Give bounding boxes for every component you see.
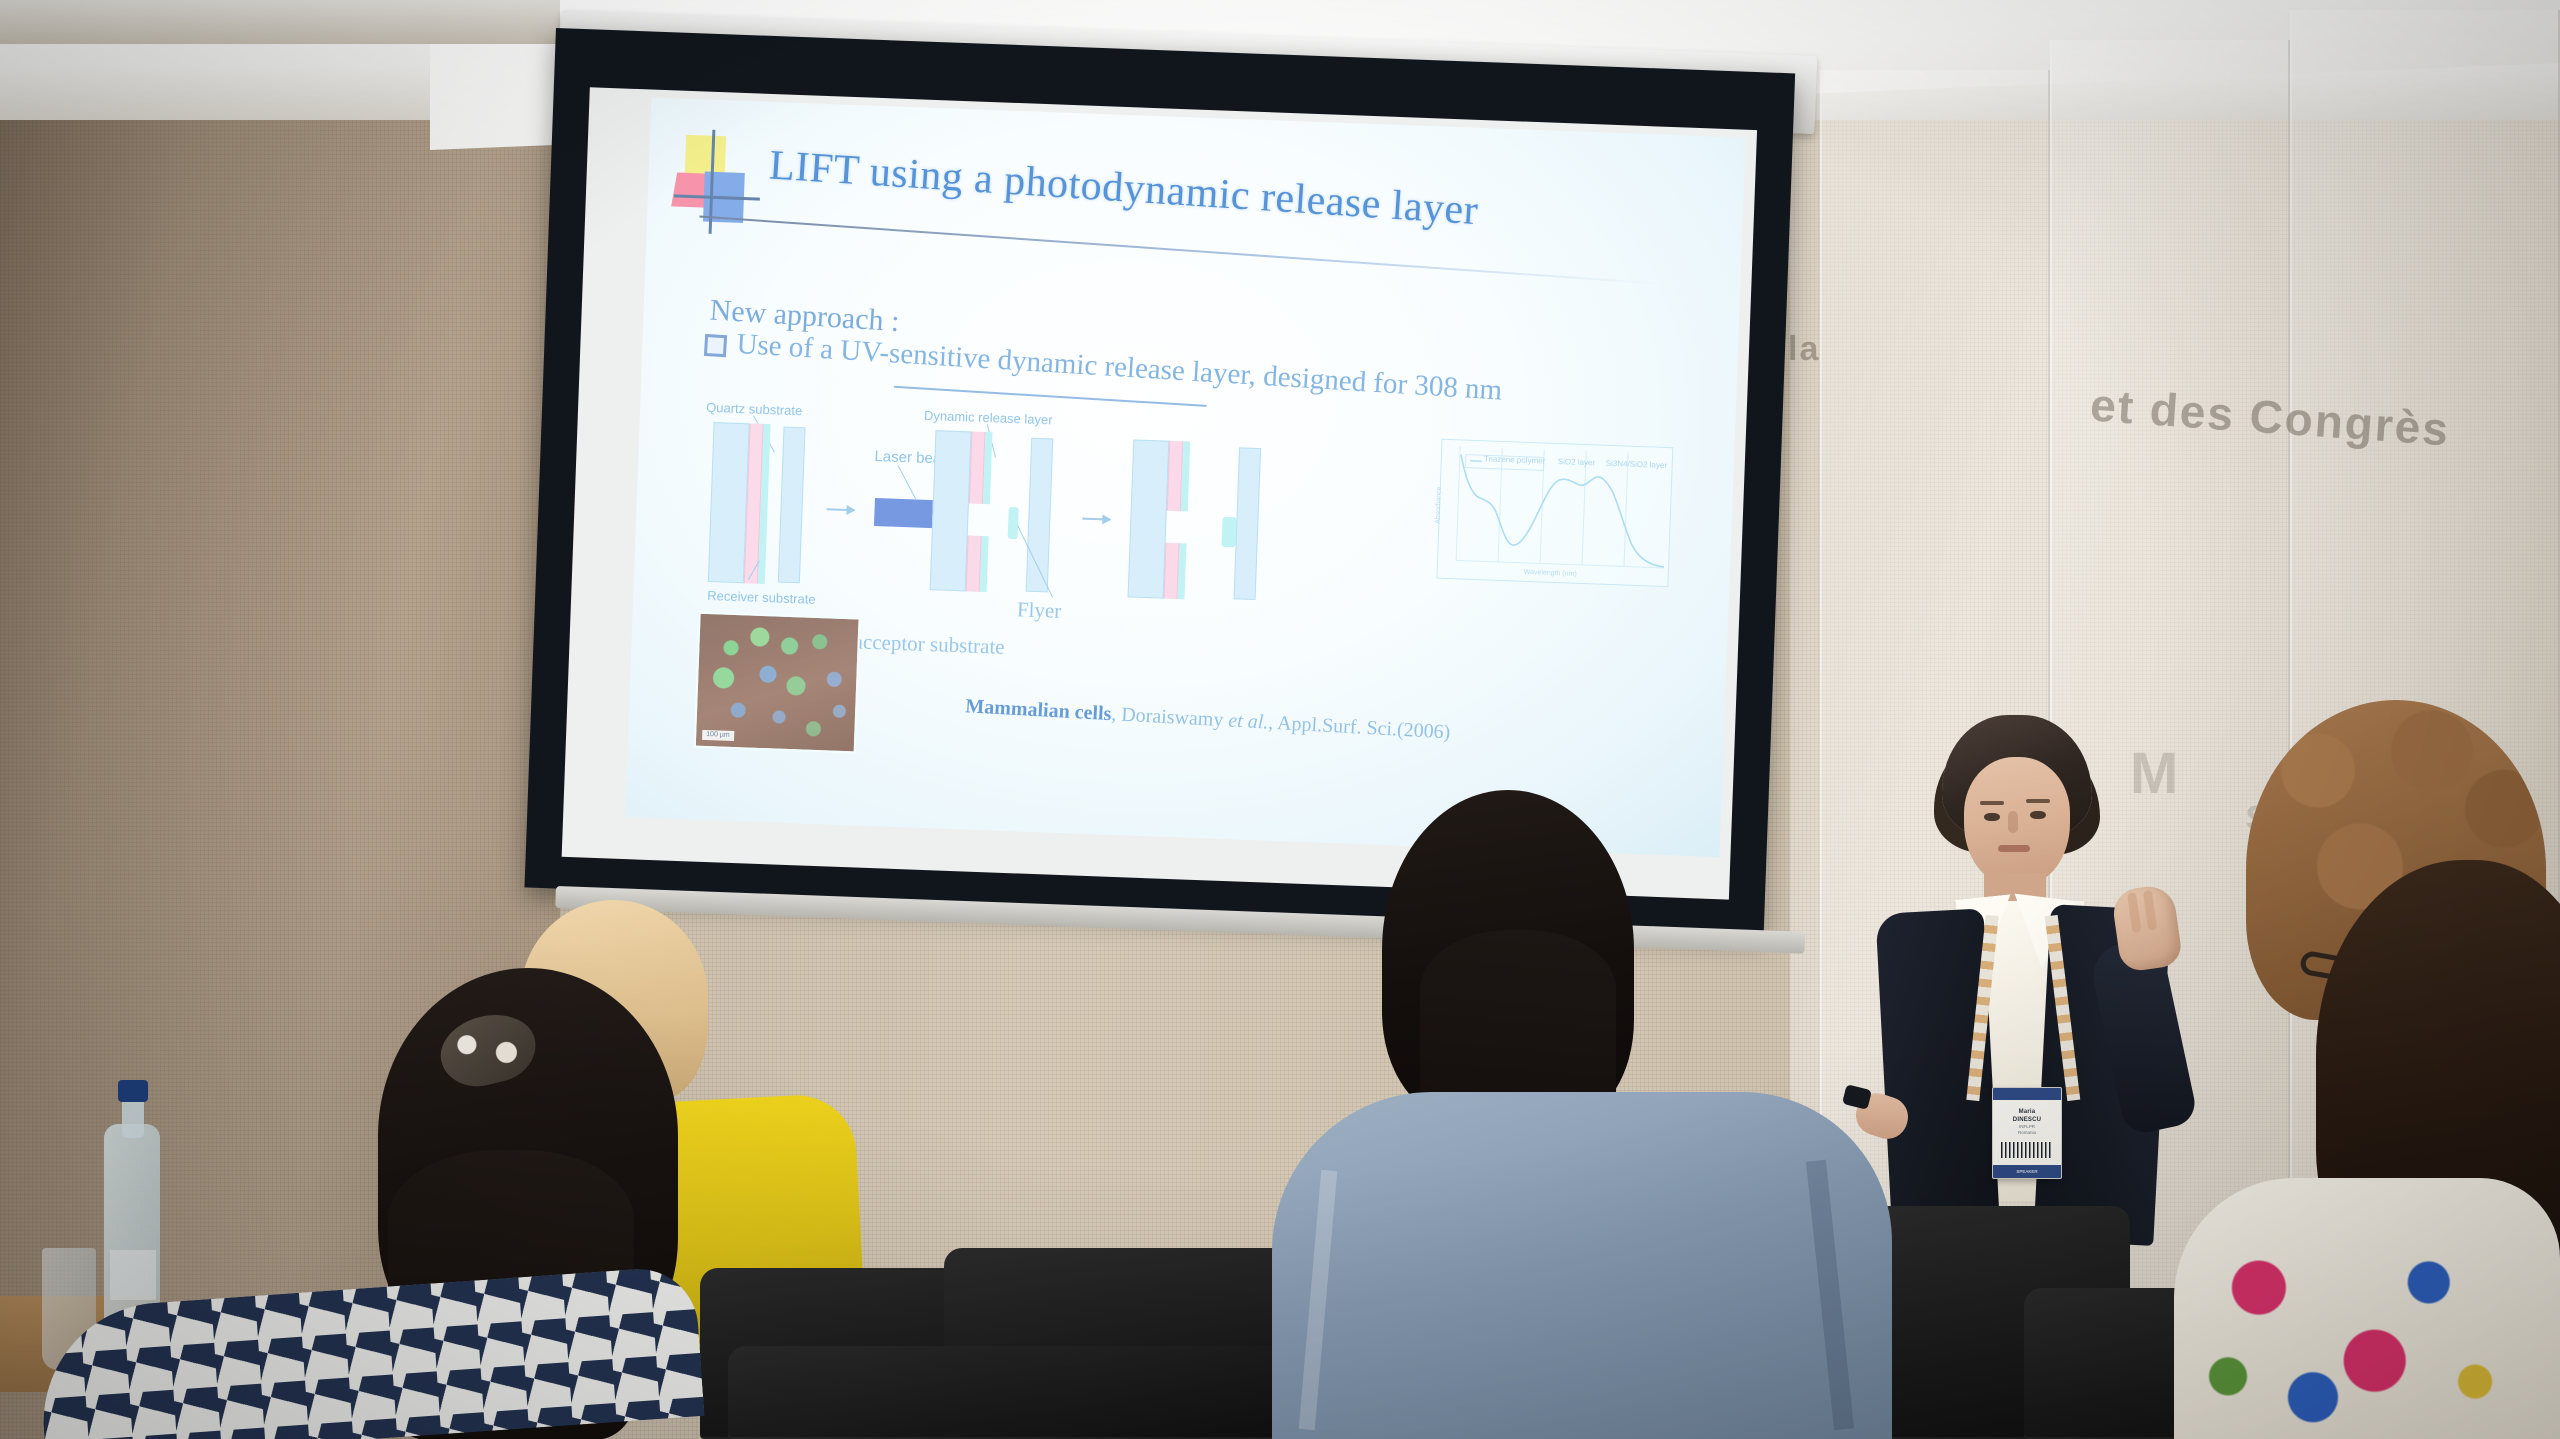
- ceiling-bulkhead-left: [0, 0, 560, 44]
- quartz-plate-2: [930, 430, 972, 591]
- badge-name-line2: DINESCU: [1993, 1116, 2061, 1124]
- fluorescence-micrograph: 100 µm: [694, 612, 861, 754]
- badge-name-line1: Maria: [1993, 1108, 2061, 1116]
- slide-content: LIFT using a photodynamic release layer …: [625, 98, 1746, 858]
- quartz-plate-3: [1128, 439, 1170, 598]
- chair-row-front-1: [728, 1346, 1288, 1439]
- presenter-mouth: [1998, 845, 2030, 852]
- inset-absorbance-chart: Triazene polymer SiO2 layer Si3N4/SiO2 l…: [1436, 439, 1673, 587]
- process-arrow-1: [827, 508, 855, 511]
- water-bottle-cap: [118, 1080, 148, 1102]
- process-arrow-2: [1082, 518, 1110, 521]
- transferred-droplet-3: [1221, 517, 1236, 547]
- receiver-plate-1: [778, 427, 806, 584]
- screen-black-border: LIFT using a photodynamic release layer …: [524, 28, 1795, 933]
- presenter: Maria DINESCU INFLPR Romania SPEAKER: [1860, 715, 2220, 1275]
- citation-italic: et al.: [1228, 709, 1269, 733]
- label-dynamic-release-layer: Dynamic release layer: [924, 408, 1053, 428]
- label-flyer: Flyer: [1017, 597, 1062, 624]
- label-receiver-substrate: Receiver substrate: [707, 588, 816, 607]
- presenter-eye-left: [1984, 813, 2000, 821]
- presenter-eye-right: [2030, 811, 2046, 819]
- citation-bold: Mammalian cells: [965, 695, 1112, 725]
- water-bottle-label: [110, 1250, 156, 1300]
- screen-surface: LIFT using a photodynamic release layer …: [562, 87, 1757, 899]
- badge-header-bar: [1993, 1088, 2061, 1100]
- badge-country: Romania: [1993, 1130, 2061, 1136]
- citation-tail: , Appl.Surf. Sci.(2006): [1268, 712, 1451, 744]
- presenter-hand-raised: [2111, 883, 2184, 973]
- slide-bullet-row: Use of a UV-sensitive dynamic release la…: [704, 326, 1503, 408]
- bullet-underline: [894, 386, 1207, 407]
- label-acceptor-substrate: acceptor substrate: [853, 629, 1005, 660]
- donor-film-3-bottom: [1177, 543, 1186, 599]
- flyer-droplet-2: [1008, 507, 1019, 539]
- badge-role-label: SPEAKER: [1993, 1165, 2061, 1178]
- conference-room-scene: la et des Congrès M sb: [0, 0, 2560, 1439]
- slide-citation: Mammalian cells, Doraiswamy et al., Appl…: [965, 695, 1451, 744]
- inset-legend-sio2: SiO2 layer: [1558, 457, 1596, 467]
- badge-footer-bar: SPEAKER: [1993, 1165, 2061, 1178]
- slide-bullet-text: Use of a UV-sensitive dynamic release la…: [736, 328, 1503, 408]
- leader-line-laser: [897, 465, 917, 501]
- donor-film-2-bottom: [980, 536, 989, 592]
- donor-film-2-top: [983, 432, 993, 504]
- audience-person-floral-blouse: [2174, 1178, 2560, 1439]
- lift-process-diagram: Quartz substrate Dynamic release layer: [643, 398, 1730, 637]
- citation-rest: , Doraiswamy: [1111, 703, 1229, 731]
- presenter-nose: [2008, 811, 2018, 833]
- presenter-brow-left: [1980, 801, 2004, 805]
- conference-badge: Maria DINESCU INFLPR Romania SPEAKER: [1992, 1087, 2062, 1179]
- micrograph-scale-bar: 100 µm: [702, 730, 734, 741]
- receiver-plate-3: [1234, 447, 1262, 600]
- audience-person-denim-jacket: [1272, 1092, 1892, 1439]
- donor-film-3-top: [1181, 441, 1191, 511]
- quartz-plate-1: [708, 422, 750, 583]
- inset-yaxis-label: Absorbance: [1435, 486, 1443, 524]
- projection-screen-assembly: LIFT using a photodynamic release layer …: [556, 10, 1818, 950]
- laser-beam-block: [874, 498, 933, 528]
- checkbox-bullet-icon: [704, 334, 727, 357]
- projected-slide: LIFT using a photodynamic release layer …: [625, 98, 1746, 858]
- presenter-brow-right: [2026, 799, 2050, 803]
- badge-barcode: [2001, 1142, 2053, 1158]
